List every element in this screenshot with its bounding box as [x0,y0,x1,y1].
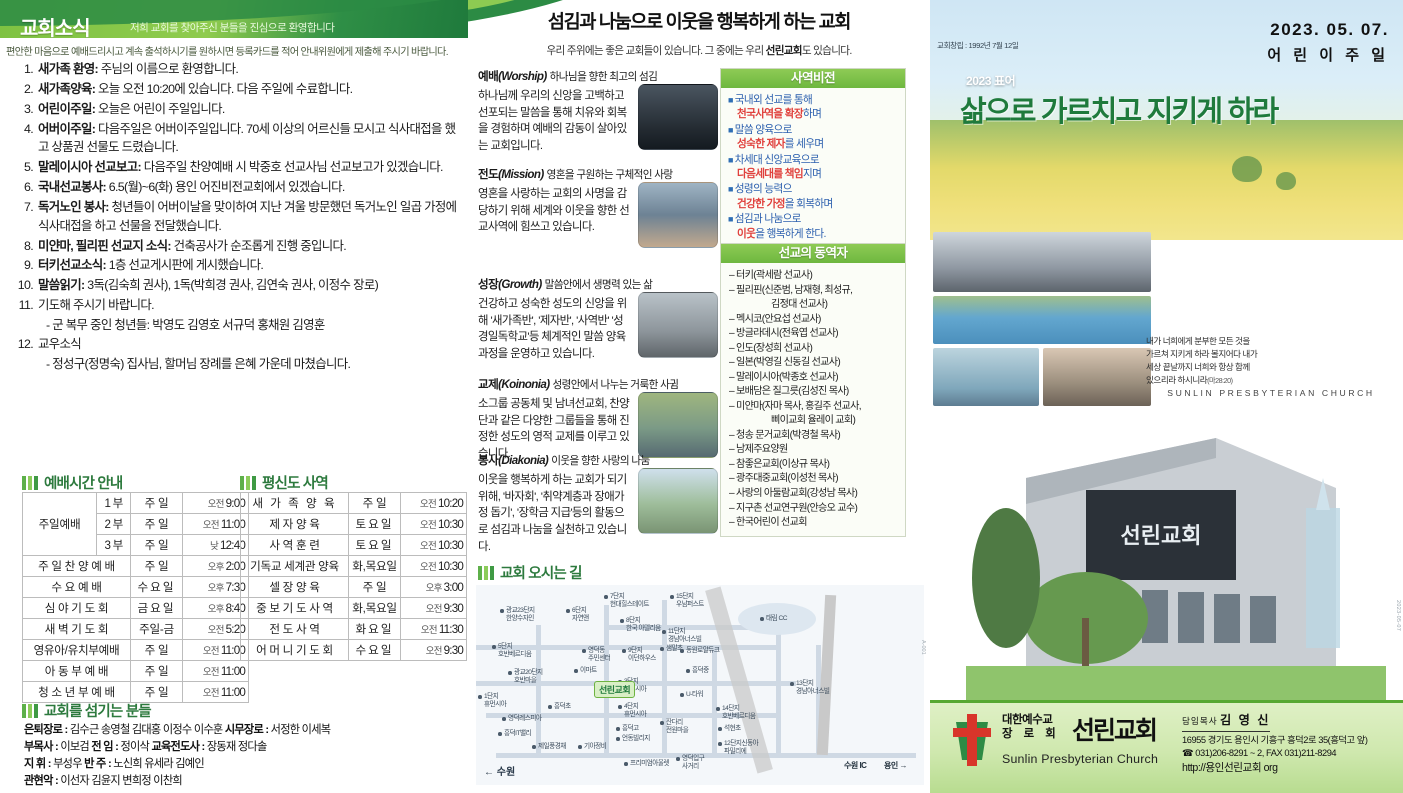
map-label: 흥덕중 [692,667,709,675]
ministry-pillar: 봉사(Diakonia)이웃을 향한 사랑의 나눔이웃을 행복하게 하는 교회가… [478,452,718,555]
news-text: 어버이주일: 다음주일은 어버이주일입니다. 70세 이상의 어르신들 모시고 … [38,120,464,158]
map-point-marker [508,671,512,675]
to-suwon-arrow: ← 수원 [484,763,515,778]
service-name: 수 요 예 배 [23,577,131,598]
map-label: 14단지호반베르디움 [722,705,755,720]
directions-heading: 교회 오시는 길 [478,562,582,583]
servants-heading: 교회를 섬기는 분들 [22,700,151,721]
church-logo-cross-icon [948,712,996,768]
map-point-marker [686,669,690,673]
worship-schedule-table-wrap: 주일예배1 부주 일오전9:002 부주 일오전11:003 부주 일낮12:4… [22,492,249,703]
map-label: 태림 CC [766,615,787,623]
worship-photo [638,84,718,150]
growth-photo [638,292,718,358]
table-row: 영유아/유치부예배주 일오전11:00 [23,640,249,661]
ministry-time: 오후3:00 [401,577,467,598]
news-text: 새가족양육: 오늘 오전 10:20에 있습니다. 다음 주일에 수료합니다. [38,80,464,99]
bullet-icon: ■ [728,95,733,105]
church-name-english-watermark: SUNLIN PRESBYTERIAN CHURCH [1146,388,1396,398]
service-time: 오전11:00 [183,682,249,703]
worship-schedule-title: 예배시간 안내 [44,472,122,493]
motto-year: 2023 표어 [966,72,1015,89]
news-number: 10. [12,276,38,295]
mission-partner-item: – 사랑의 아둘람교회(강성남 목사) [729,487,901,502]
mission-partner-item: – 청송 문거교회(박경철 목사) [729,429,901,444]
news-text: 새가족 환영: 주님의 이름으로 환영합니다. [38,60,464,79]
table-row: 아 동 부 예 배주 일오전11:00 [23,661,249,682]
table-row: 중 보 기 도 사 역화,목요일오전9:30 [241,598,467,619]
map-point-marker [616,737,620,741]
mission-partner-item: – 한국어린이 선교회 [729,516,901,531]
pillar-body-text: 영혼을 사랑하는 교회의 사명을 감당하기 위해 세계와 이웃을 향한 선교사역… [478,186,630,236]
ministry-name: 중 보 기 도 사 역 [241,598,349,619]
service-time: 오전11:00 [183,640,249,661]
mission-partner-item: – 터키(곽세람 선교사) [729,269,901,284]
ministry-name: 기독교 세계관 양육 [241,556,349,577]
map-point-marker [498,732,502,736]
mission-partner-item: – 말레이시아(박종호 선교사) [729,371,901,386]
mission-partner-item: – 멕시코(안요섭 선교사) [729,313,901,328]
news-number: 1. [12,60,38,79]
motto-text: 삶으로 가르치고 지키게 하라 [960,88,1277,130]
news-text: 말씀읽기: 3독(김숙희 권사), 1독(박희경 권사, 김연숙 권사, 이정수… [38,276,464,295]
subheadline-church: 선린교회 [766,45,802,57]
ministry-time: 오전10:30 [401,556,467,577]
servants-line: 관현악 : 이선자 김윤지 변희정 이찬희 [24,773,454,790]
map-label: 언동빌리지 [622,735,650,743]
map-label: 11단지경남아너스빌 [668,628,701,643]
news-text: 국내선교봉사: 6.5(월)~6(화) 용인 어진비전교회에서 있겠습니다. [38,178,464,197]
ministry-pillar: 예배(Worship)하나님을 향한 최고의 섬김하나님께 우리의 신앙을 고백… [478,68,718,155]
ministry-time: 오전9:30 [401,640,467,661]
map-label: 12단지신동아파밀리에 [724,740,758,755]
news-text: 기도해 주시기 바랍니다. [38,296,464,315]
service-day: 주 일 [131,514,183,535]
table-row: 기독교 세계관 양육화,목요일오전10:30 [241,556,467,577]
map-point-marker [716,707,720,711]
servants-line: 은퇴장로 : 김수근 송영철 김대홍 이정수 이수훈 시무장로 : 서정한 이세… [24,722,454,739]
worship-schedule-table: 주일예배1 부주 일오전9:002 부주 일오전11:003 부주 일낮12:4… [22,492,249,703]
table-row: 전 도 사 역화요일오전11:30 [241,619,467,640]
tree-shape [1232,156,1262,182]
map-label: 7단지현대힐스테이트 [610,593,649,608]
vision-item: ■성령의 능력으건강한 가정을 회복하며 [728,182,901,211]
map-label: 5단지호반베르디움 [498,643,531,658]
pastor-label: 담임목사 [1182,716,1218,726]
ministry-vision-list: ■국내외 선교를 통해천국사역을 확장하며■말씀 양육으로성숙한 제자를 세우며… [721,88,905,248]
church-name-korean: 선린교회 [1072,711,1156,747]
service-day: 금요일 [131,598,183,619]
ministry-name: 사 역 훈 련 [241,535,349,556]
ministry-day: 토요일 [349,535,401,556]
table-row: 새 가 족 양 육주 일오전10:20 [241,493,467,514]
map-point-marker [582,649,586,653]
servants-line: 부목사 : 이보검 전 임 : 정이삭 교육전도사 : 장동재 정다솔 [24,739,454,756]
mission-partner-item: – 지구촌 선교연구원(안승오 교수) [729,502,901,517]
ministry-name: 제 자 양 육 [241,514,349,535]
ministry-pillar: 성장(Growth)말씀안에서 생명력 있는 삶건강하고 성숙한 성도의 신앙을… [478,276,718,363]
center-panel: 섬김과 나눔으로 이웃을 행복하게 하는 교회 우리 주위에는 좋은 교회들이 … [468,0,930,793]
mission-photo [638,182,718,248]
mission-partner-item: – 인도(장성희 선교사) [729,342,901,357]
subheadline-a: 우리 주위에는 좋은 교회들이 있습니다. 그 중에는 우리 [546,45,765,57]
church-website[interactable]: http://용인선린교회 org [1182,761,1397,776]
news-item: 8.미얀마, 필리핀 선교지 소식: 건축공사가 순조롭게 진행 중입니다. [12,237,464,256]
map-point-marker [680,649,684,653]
pillar-heading: 성장(Growth)말씀안에서 생명력 있는 삶 [478,276,718,292]
verse-line: 가르쳐 지키게 하라 볼지어다 내가 [1146,348,1396,361]
welcome-message: 저희 교회를 찾아주신 분들을 진심으로 환영합니다 [130,20,334,35]
map-point-marker [660,721,664,725]
map-point-marker [500,609,504,613]
news-number: 9. [12,256,38,275]
map-label: 기아정비 [584,743,606,751]
church-news-title: 교회소식 [20,12,90,38]
center-headline: 섬김과 나눔으로 이웃을 행복하게 하는 교회 [468,8,930,34]
news-text: 독거노인 봉사: 청년들이 어버이날을 맞이하여 지난 겨울 방문했던 독거노인… [38,198,464,236]
news-number: 11. [12,296,38,315]
subheadline-b: 도 있습니다. [802,45,852,57]
service-day: 주 일 [131,640,183,661]
news-number: 8. [12,237,38,256]
news-number: 2. [12,80,38,99]
lay-ministry-table: 새 가 족 양 육주 일오전10:20제 자 양 육토요일오전10:30사 역 … [240,492,467,661]
news-number: 12. [12,335,38,354]
jeju-trip-photo [933,296,1151,344]
map-point-marker [604,595,608,599]
table-row: 셀 장 양 육주 일오후3:00 [241,577,467,598]
news-text: 어린이주일: 오늘은 어린이 주일입니다. [38,100,464,119]
ministry-day: 화요일 [349,619,401,640]
map-point-marker [670,595,674,599]
news-number: 6. [12,178,38,197]
service-name: 심 야 기 도 회 [23,598,131,619]
table-row: 심 야 기 도 회금요일오후8:40 [23,598,249,619]
pastor-name: 김 영 신 [1220,713,1270,727]
denomination-name: 대한예수교 장 로 회 [1002,714,1060,742]
map-point-marker [718,727,722,731]
vision-item: ■말씀 양육으로성숙한 제자를 세우며 [728,123,901,152]
service-part: 3 부 [97,535,131,556]
church-map-pin[interactable]: 선린교회 [594,681,635,698]
news-item: 9.터키선교소식: 1층 선교게시판에 게시했습니다. [12,256,464,275]
news-number: 5. [12,158,38,177]
map-label: 잔다리전원마을 [666,719,688,734]
map-point-marker [618,705,622,709]
pillar-heading: 교제(Koinonia)성령안에서 나누는 거룩한 사귐 [478,376,718,392]
map-label: 13단지경남아너스빌 [796,680,829,695]
news-item: 10.말씀읽기: 3독(김숙희 권사), 1독(박희경 권사, 김연숙 권사, … [12,276,464,295]
pillar-body-text: 이웃을 행복하게 하는 교회가 되기 위해, '바자회', '취약계층과 장애가… [478,472,630,555]
service-name: 주 일 찬 양 예 배 [23,556,131,577]
ministry-name: 새 가 족 양 육 [241,493,349,514]
ministry-name: 셀 장 양 육 [241,577,349,598]
service-day: 주 일 [131,493,183,514]
location-map[interactable]: 광교23단지한양수자인6단지자연앤7단지현대힐스테이트8단지한국 아델리움15단… [476,585,924,785]
church-phone: ☎ 031)206-8291 ~ 2, FAX 031)211-8294 [1182,747,1397,760]
bullet-icon: ■ [728,184,733,194]
map-label: 석현초 [724,725,741,733]
yongin-label: 용인 → [884,761,907,770]
service-day: 주 일 [131,535,183,556]
news-number: 3. [12,100,38,119]
map-point-marker [566,609,570,613]
service-time: 오전5:20 [183,619,249,640]
vision-item: ■국내외 선교를 통해천국사역을 확장하며 [728,93,901,122]
map-label: 흥덕초 [554,703,571,711]
map-point-marker [492,645,496,649]
worship-schedule-heading: 예배시간 안내 [22,472,122,493]
print-code-center: A-001 [920,640,926,655]
diakonia-photo [638,468,718,534]
pillar-heading: 예배(Worship)하나님을 향한 최고의 섬김 [478,68,718,84]
mission-partner-item: – 참좋은교회(이상규 목사) [729,458,901,473]
ministry-day: 수요일 [349,640,401,661]
news-number: 7. [12,198,38,217]
news-sub-item: - 군 복무 중인 청년들: 박영도 김영호 서규덕 홍채원 김영훈 [12,316,464,335]
service-day: 주 일 [131,556,183,577]
ministry-time: 오전11:30 [401,619,467,640]
news-item: 7.독거노인 봉사: 청년들이 어버이날을 맞이하여 지난 겨울 방문했던 독거… [12,198,464,236]
koinonia-photo [638,392,718,458]
news-item: 11.기도해 주시기 바랍니다. [12,296,464,315]
map-label: 8단지한국 아델리움 [626,617,661,632]
map-point-marker [718,742,722,746]
news-item: 6.국내선교봉사: 6.5(월)~6(화) 용인 어진비전교회에서 있겠습니다. [12,178,464,197]
green-bars-icon [240,476,256,490]
bible-verse: 내가 너희에게 분부한 모든 것을가르쳐 지키게 하라 볼지어다 내가세상 끝날… [1146,335,1396,387]
service-time: 낮12:40 [183,535,249,556]
servants-list: 은퇴장로 : 김수근 송영철 김대홍 이정수 이수훈 시무장로 : 서정한 이세… [24,722,454,790]
map-label: 영덕레스피아 [508,715,541,723]
service-time: 오전11:00 [183,514,249,535]
news-item: 12.교우소식 [12,335,464,354]
registration-notice: 편안한 마음으로 예배드리시고 계속 출석하시기를 원하시면 등록카드를 적어 … [6,43,464,58]
ministry-day: 화,목요일 [349,598,401,619]
church-news-list: 1.새가족 환영: 주님의 이름으로 환영합니다.2.새가족양육: 오늘 오전 … [12,60,464,374]
map-point-marker [616,727,620,731]
mission-partner-item: – 방글라데시(전육엽 선교사) [729,327,901,342]
sunday-service-label: 주일예배 [23,493,97,556]
service-time: 오후8:40 [183,598,249,619]
map-point-marker [662,630,666,634]
tree-shape [1276,172,1296,190]
ministry-day: 주 일 [349,577,401,598]
news-item: 1.새가족 환영: 주님의 이름으로 환영합니다. [12,60,464,79]
service-time: 오후2:00 [183,556,249,577]
mission-partner-item: – 일본(박영길 신동길 선교사) [729,356,901,371]
map-point-marker [532,745,536,749]
ministry-day: 주 일 [349,493,401,514]
ministry-time: 오전10:30 [401,535,467,556]
map-point-marker [680,693,684,697]
mission-partner-item: – 보배담은 질그릇(김성진 목사) [729,385,901,400]
map-point-marker [660,647,664,651]
news-text: 말레이시아 선교보고: 다음주일 찬양예배 시 박중호 선교사님 선교보고가 있… [38,158,464,177]
service-name: 아 동 부 예 배 [23,661,131,682]
map-label: 광교23단지한양수자인 [506,607,535,622]
ministry-vision-box: 사역비전 ■국내외 선교를 통해천국사역을 확장하며■말씀 양육으로성숙한 제자… [720,68,906,249]
senior-pastor: 담임목사 김 영 신 [1182,712,1270,732]
map-label: 동원로얄듀크 [686,647,719,655]
mission-partner-item: 김정대 선교사) [729,298,901,313]
table-row: 제 자 양 육토요일오전10:30 [241,514,467,535]
service-part: 1 부 [97,493,131,514]
mission-partner-item: – 광주대중교회(이성천 목사) [729,472,901,487]
map-point-marker [790,682,794,686]
congregation-photo [933,232,1151,292]
pillar-body-text: 하나님께 우리의 신앙을 고백하고 선포되는 말씀을 통해 치유와 회복을 경험… [478,88,630,155]
bullet-icon: ■ [728,125,733,135]
church-news-banner: 교회소식 저희 교회를 찾아주신 분들을 진심으로 환영합니다 [0,0,468,38]
green-bars-icon [22,704,38,718]
service-time: 오전11:00 [183,661,249,682]
field-background [930,120,1403,240]
map-label: 프리미엄아울렛 [630,760,669,768]
table-row: 사 역 훈 련토요일오전10:30 [241,535,467,556]
news-item: 2.새가족양육: 오늘 오전 10:20에 있습니다. 다음 주일에 수료합니다… [12,80,464,99]
ministry-time: 오전10:30 [401,514,467,535]
map-point-marker [760,617,764,621]
verse-line: 세상 끝날까지 너희와 항상 함께 [1146,361,1396,374]
ministry-name: 전 도 사 역 [241,619,349,640]
ministry-day: 토요일 [349,514,401,535]
founding-date: 교회창립 : 1992년 7월 12일 [937,40,1018,51]
mission-partners-list: – 터키(곽세람 선교사)– 필리핀(신준범, 남재형, 최성규,김정대 선교사… [721,263,905,536]
church-contact-info: 담임목사 김 영 신 16955 경기도 용인시 기흥구 흥덕2로 35(흥덕고… [1182,712,1397,776]
vision-item: ■차세대 신앙교육으로다음세대를 책임지며 [728,153,901,182]
bulletin-date: 2023. 05. 07. [1270,20,1389,40]
lay-ministry-table-wrap: 새 가 족 양 육주 일오전10:20제 자 양 육토요일오전10:30사 역 … [240,492,467,661]
news-text: 교우소식 [38,335,464,354]
mission-partners-box: 선교의 동역자 – 터키(곽세람 선교사)– 필리핀(신준범, 남재형, 최성규… [720,243,906,537]
vision-item: ■섬김과 나눔으로이웃을 행복하게 한다. [728,212,901,241]
ministry-pillar: 전도(Mission)영혼을 구원하는 구체적인 사랑영혼을 사랑하는 교회의 … [478,166,718,236]
mission-partner-item: 삐이교회 율레이 교회) [729,414,901,429]
map-label: U-타워 [686,691,703,699]
verse-line: 내가 너희에게 분부한 모든 것을 [1146,335,1396,348]
service-day: 주 일 [131,661,183,682]
map-point-marker [578,745,582,749]
table-row: 주일예배1 부주 일오전9:00 [23,493,249,514]
ministry-time: 오전9:30 [401,598,467,619]
directions-title: 교회 오시는 길 [500,562,582,583]
map-point-marker [624,762,628,766]
map-label: 흥덕고 [622,725,639,733]
service-time: 오전9:00 [183,493,249,514]
denomination-line2: 장 로 회 [1002,728,1060,742]
green-bars-icon [22,476,38,490]
denomination-line1: 대한예수교 [1002,714,1060,728]
mission-partner-item: – 필리핀(신준범, 남재형, 최성규, [729,284,901,299]
map-label: 영덕동주민센터 [588,647,610,662]
ministry-pillar: 교제(Koinonia)성령안에서 나누는 거룩한 사귐소그룹 공동체 및 남녀… [478,376,718,463]
table-row: 어 머 니 기 도 회수요일오전9:30 [241,640,467,661]
map-point-marker [502,717,506,721]
news-sub-item: - 정성구(정명숙) 집사님, 할머님 장례를 은혜 가운데 마쳤습니다. [12,355,464,374]
map-label: 4단지휴먼시아 [624,703,646,718]
ministry-day: 화,목요일 [349,556,401,577]
church-address: 16955 경기도 용인시 기흥구 흥덕2로 35(흥덕고 앞) [1182,734,1397,747]
church-name-english: Sunlin Presbyterian Church [1002,752,1158,766]
lay-ministry-title: 평신도 사역 [262,472,328,493]
pillar-heading: 전도(Mission)영혼을 구원하는 구체적인 사랑 [478,166,718,182]
map-point-marker [676,757,680,761]
map-point-marker [620,619,624,623]
map-label: 광교20단지호반마을 [514,669,543,684]
ministry-time: 오전10:20 [401,493,467,514]
news-text: 미얀마, 필리핀 선교지 소식: 건축공사가 순조롭게 진행 중입니다. [38,237,464,256]
bulletin-page: 교회소식 저희 교회를 찾아주신 분들을 진심으로 환영합니다 편안한 마음으로… [0,0,1403,793]
service-day: 주일-금 [131,619,183,640]
map-label: 제일풍경채 [538,743,566,751]
servants-title: 교회를 섬기는 분들 [44,700,151,721]
mission-partner-item: – 남제주요양원 [729,443,901,458]
map-label: 1단지휴먼시아 [484,693,506,708]
map-point-marker [574,669,578,673]
service-day: 수요일 [131,577,183,598]
table-row: 주 일 찬 양 예 배주 일오후2:00 [23,556,249,577]
service-time: 오후7:30 [183,577,249,598]
left-panel: 교회소식 저희 교회를 찾아주신 분들을 진심으로 환영합니다 편안한 마음으로… [0,0,468,793]
map-label: 이마트 [580,667,597,675]
map-label: 9단지이던하우스 [628,647,656,662]
suwon-ic-label: 수원 IC [844,761,866,770]
group-photo-right [1043,348,1151,406]
right-panel: 교회창립 : 1992년 7월 12일 2023. 05. 07. 어 린 이 … [930,0,1403,793]
table-row: 수 요 예 배수요일오후7:30 [23,577,249,598]
lay-ministry-heading: 평신도 사역 [240,472,328,493]
table-row: 새 벽 기 도 회주일-금오전5:20 [23,619,249,640]
news-item: 3.어린이주일: 오늘은 어린이 주일입니다. [12,100,464,119]
center-subheadline: 우리 주위에는 좋은 교회들이 있습니다. 그 중에는 우리 선린교회도 있습니… [468,43,930,58]
news-item: 5.말레이시아 선교보고: 다음주일 찬양예배 시 박중호 선교사님 선교보고가… [12,158,464,177]
ministry-name: 어 머 니 기 도 회 [241,640,349,661]
church-building-photo: 선린교회 [966,418,1386,708]
mission-partner-item: – 미얀마(자마 목사, 홍길주 선교사, [729,400,901,415]
bullet-icon: ■ [728,214,733,224]
map-label: 6단지자연앤 [572,607,589,622]
news-text: 터키선교소식: 1층 선교게시판에 게시했습니다. [38,256,464,275]
service-name: 새 벽 기 도 회 [23,619,131,640]
pillar-body-text: 건강하고 성숙한 성도의 신앙을 위해 '새가족반', '제자반', '사역반'… [478,296,630,363]
map-point-marker [622,649,626,653]
sunday-label: 어 린 이 주 일 [1267,44,1389,65]
servants-line: 지 휘 : 부성우 반 주 : 노신희 유세라 김예인 [24,756,454,773]
news-item: 4.어버이주일: 다음주일은 어버이주일입니다. 70세 이상의 어르신들 모시… [12,120,464,158]
verse-reference: (마28:20) [1207,376,1232,385]
print-code-right: 2023-05-07 [1395,600,1401,631]
service-name: 영유아/유치부예배 [23,640,131,661]
news-number: 4. [12,120,38,139]
group-photo-left [933,348,1039,406]
map-point-marker [478,695,482,699]
svg-text:선린교회: 선린교회 [1121,523,1202,548]
map-label: 영덕입구사거리 [682,755,704,770]
verse-last-line: 있으리라 하시니라 [1146,375,1207,385]
map-label: 15단지우남퍼스트 [676,593,704,608]
bullet-icon: ■ [728,155,733,165]
service-part: 2 부 [97,514,131,535]
building-illustration: 선린교회 [966,418,1386,708]
ministry-vision-title: 사역비전 [721,69,905,88]
map-point-marker [548,705,552,709]
green-bars-icon [478,566,494,580]
map-label: 흥덕IT밸리 [504,730,531,738]
mission-partners-title: 선교의 동역자 [721,244,905,263]
pillar-heading: 봉사(Diakonia)이웃을 향한 사랑의 나눔 [478,452,718,468]
